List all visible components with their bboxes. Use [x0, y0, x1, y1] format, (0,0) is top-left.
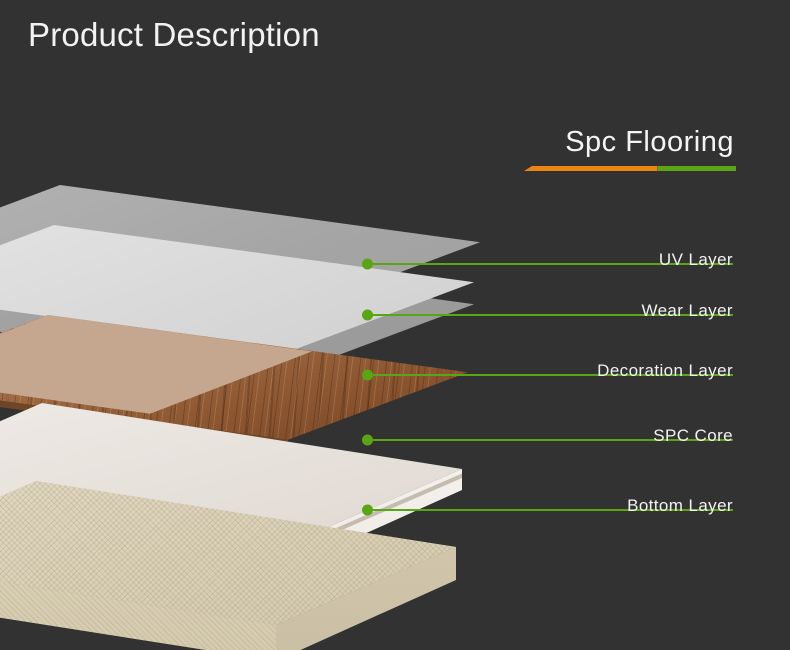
page-title: Product Description — [28, 16, 320, 54]
callout-dot-marker — [362, 259, 373, 270]
callout-wear-layer: Wear Layer — [362, 302, 733, 328]
callout-label-wear-layer: Wear Layer — [641, 301, 733, 321]
callout-label-spc-core: SPC Core — [653, 426, 733, 446]
rule-segment-orange — [524, 166, 658, 171]
callout-label-uv-layer: UV Layer — [659, 250, 733, 270]
callout-decoration-layer: Decoration Layer — [362, 362, 733, 388]
callout-bottom-layer: Bottom Layer — [362, 497, 733, 523]
heading-underline-rule — [524, 166, 736, 171]
callout-dot-marker — [362, 505, 373, 516]
flooring-exploded-diagram — [0, 185, 500, 605]
callout-spc-core: SPC Core — [362, 427, 733, 453]
section-heading: Spc Flooring — [500, 126, 740, 159]
callout-dot-marker — [362, 435, 373, 446]
callout-dot-marker — [362, 310, 373, 321]
section-heading-group: Spc Flooring — [500, 126, 740, 159]
product-description-slide: Product Description Spc Flooring — [0, 0, 790, 650]
callout-label-bottom-layer: Bottom Layer — [627, 496, 733, 516]
rule-segment-green — [658, 166, 736, 171]
callout-dot-marker — [362, 370, 373, 381]
callout-uv-layer: UV Layer — [362, 251, 733, 277]
callout-label-decoration-layer: Decoration Layer — [597, 361, 733, 381]
